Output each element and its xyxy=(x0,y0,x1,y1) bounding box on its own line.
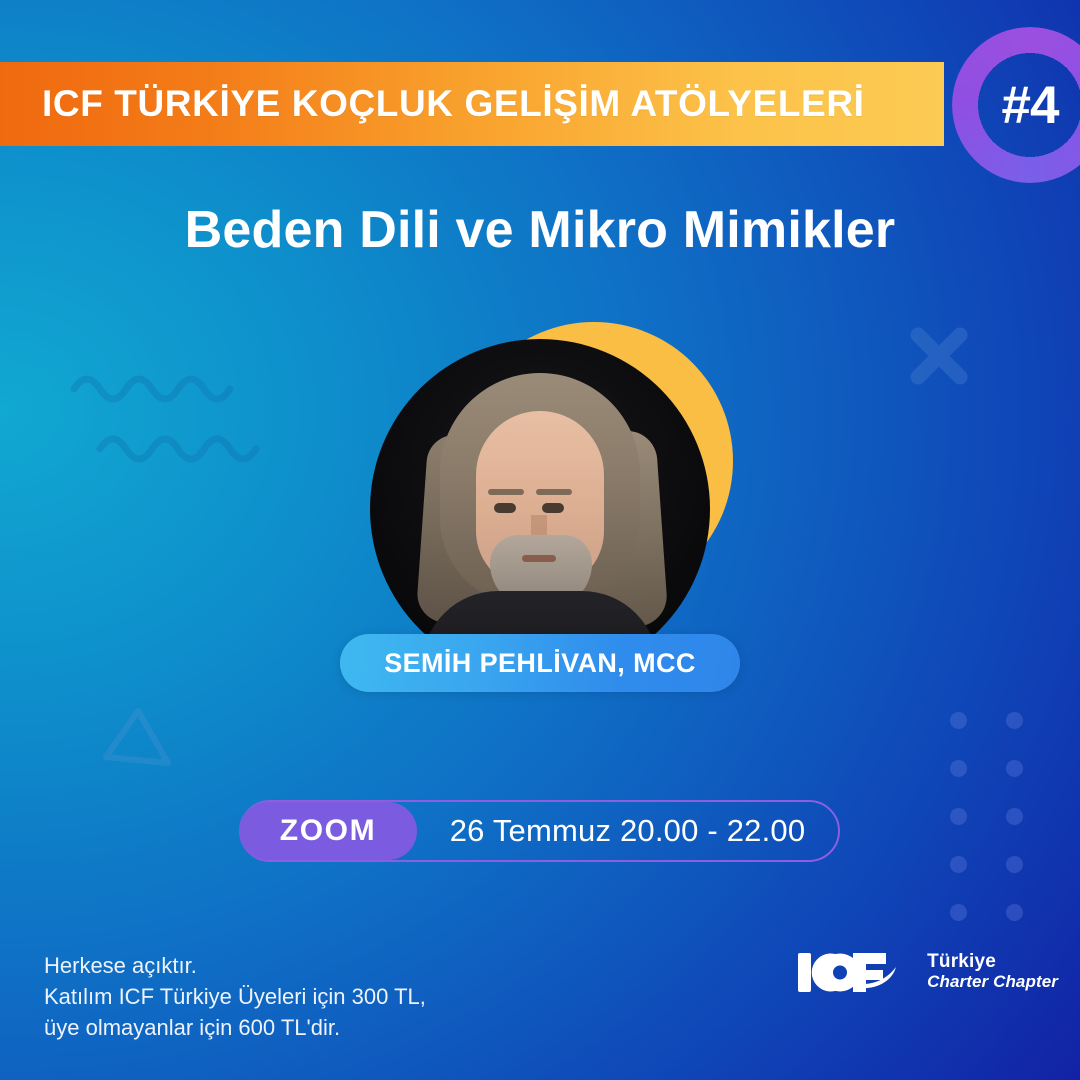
footer-line-2: Katılım ICF Türkiye Üyeleri için 300 TL, xyxy=(44,981,426,1012)
portrait-eye-left xyxy=(494,503,516,513)
speaker-name: SEMİH PEHLİVAN, MCC xyxy=(384,648,696,679)
header-banner: ICF TÜRKİYE KOÇLUK GELİŞİM ATÖLYELERİ xyxy=(0,62,944,146)
icf-logo-text: Türkiye Charter Chapter xyxy=(927,951,1058,991)
portrait-brow-right xyxy=(536,489,572,495)
speaker-photo xyxy=(370,339,710,679)
footer-note: Herkese açıktır. Katılım ICF Türkiye Üye… xyxy=(44,950,426,1044)
platform-pill[interactable]: ZOOM xyxy=(239,802,417,860)
icf-logo-subtitle: Charter Chapter xyxy=(927,972,1058,991)
event-datetime: 26 Temmuz 20.00 - 22.00 xyxy=(417,813,838,849)
banner-title: ICF TÜRKİYE KOÇLUK GELİŞİM ATÖLYELERİ xyxy=(0,83,865,125)
icf-logo-country: Türkiye xyxy=(927,951,1058,972)
page-title: Beden Dili ve Mikro Mimikler xyxy=(0,200,1080,260)
icf-logo: Türkiye Charter Chapter xyxy=(796,946,1058,996)
platform-label: ZOOM xyxy=(280,814,376,848)
episode-badge-label: #4 xyxy=(952,27,1080,183)
portrait-mouth xyxy=(522,555,556,562)
speaker-name-badge: SEMİH PEHLİVAN, MCC xyxy=(340,634,740,692)
triangle-outline-icon xyxy=(100,705,174,775)
icf-logo-icon xyxy=(796,946,914,996)
portrait-brow-left xyxy=(488,489,524,495)
wavy-lines-icon xyxy=(70,365,280,475)
event-poster: ICF TÜRKİYE KOÇLUK GELİŞİM ATÖLYELERİ #4… xyxy=(0,0,1080,1080)
portrait-eye-right xyxy=(542,503,564,513)
footer-line-3: üye olmayanlar için 600 TL'dir. xyxy=(44,1012,426,1043)
dot-grid-icon xyxy=(950,712,1062,952)
footer-line-1: Herkese açıktır. xyxy=(44,950,426,981)
x-mark-icon xyxy=(908,325,970,387)
event-meta-row: ZOOM 26 Temmuz 20.00 - 22.00 xyxy=(239,800,840,862)
